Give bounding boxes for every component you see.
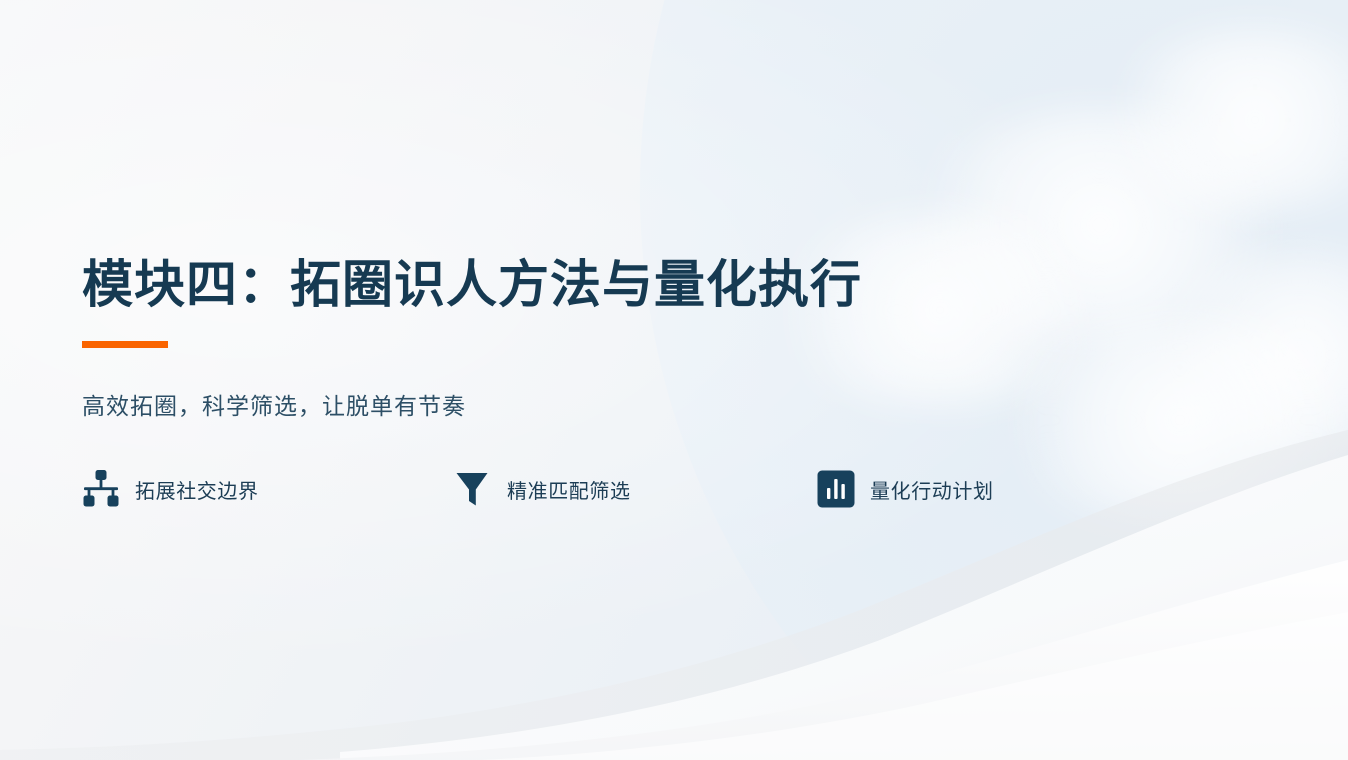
presentation-slide: 模块四：拓圈识人方法与量化执行 高效拓圈，科学筛选，让脱单有节奏 [0, 0, 1348, 760]
funnel-filter-icon [454, 468, 494, 510]
slide-content: 模块四：拓圈识人方法与量化执行 高效拓圈，科学筛选，让脱单有节奏 [82, 0, 1262, 760]
title-accent-bar [82, 341, 168, 348]
sitemap-icon [82, 468, 122, 510]
bar-chart-icon [817, 468, 857, 510]
feature-label-3: 量化行动计划 [870, 475, 994, 504]
slide-title: 模块四：拓圈识人方法与量化执行 [82, 256, 862, 315]
feature-label-1: 拓展社交边界 [135, 475, 259, 504]
feature-item-3: 量化行动计划 [817, 466, 994, 512]
feature-list: 拓展社交边界 精准匹配筛选 [82, 466, 1142, 516]
feature-label-2: 精准匹配筛选 [507, 475, 631, 504]
slide-subtitle: 高效拓圈，科学筛选，让脱单有节奏 [82, 387, 466, 421]
feature-item-1: 拓展社交边界 [82, 466, 259, 512]
feature-item-2: 精准匹配筛选 [454, 466, 631, 512]
